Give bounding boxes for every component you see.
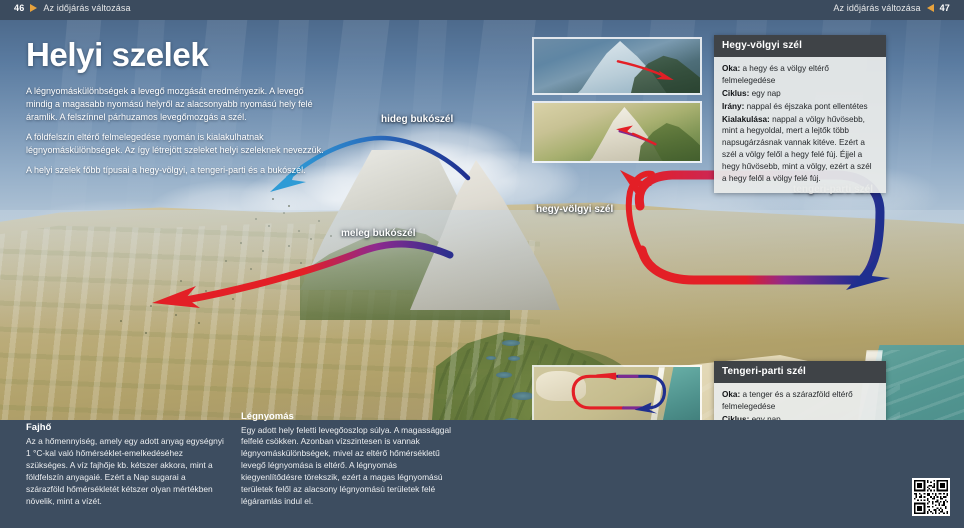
panel-row-label: Oka:	[722, 64, 740, 73]
intro-paragraph-2: A földfelszín eltérő felmelegedése nyomá…	[26, 131, 326, 157]
panel-hegy-volgyi-szel-body: Oka: a hegy és a völgy eltérő felmeleged…	[714, 57, 886, 193]
section-title-right: Az időjárás változása	[833, 3, 920, 13]
panel-row: Oka: a tenger és a szárazföld eltérő fel…	[722, 389, 878, 413]
qr-code[interactable]	[912, 478, 950, 516]
panel-row-value: nappal és éjszaka pont ellentétes	[744, 102, 867, 111]
inset-mountain-night[interactable]	[532, 37, 702, 95]
intro-paragraph-3: A helyi szelek főbb típusai a hegy-völgy…	[26, 164, 326, 177]
header-left-group: 46 Az időjárás változása	[14, 3, 131, 13]
definition-fajho-title: Fajhő	[26, 422, 226, 433]
panel-row-value: nappal a völgy hűvösebb, mint a hegyolda…	[722, 115, 872, 183]
intro-paragraph-1: A légnyomáskülönbségek a levegő mozgását…	[26, 85, 326, 124]
lake	[486, 356, 496, 360]
definition-legnyomas-text: Egy adott hely feletti levegőoszlop súly…	[241, 425, 451, 508]
panel-row-value: egy nap	[749, 89, 780, 98]
triangle-left-icon	[927, 4, 934, 12]
lake	[496, 372, 512, 378]
panel-row-label: Irány:	[722, 102, 744, 111]
lake	[508, 356, 520, 361]
qr-code-icon	[914, 480, 948, 514]
page-title: Helyi szelek	[26, 38, 326, 71]
section-title-left: Az időjárás változása	[43, 3, 130, 13]
header-right-group: Az időjárás változása 47	[833, 3, 950, 13]
label-hegy-volgyi-szel: hegy-völgyi szél	[536, 204, 613, 215]
label-meleg-bukoszel: meleg bukószél	[341, 228, 415, 239]
panel-row: Kialakulása: nappal a völgy hűvösebb, mi…	[722, 114, 878, 185]
panel-hegy-volgyi-szel: Hegy-völgyi szél Oka: a hegy és a völgy …	[714, 35, 886, 193]
definition-fajho-text: Az a hőmennyiség, amely egy adott anyag …	[26, 436, 226, 508]
panel-row-value: a tenger és a szárazföld eltérő felmeleg…	[722, 390, 853, 411]
panel-row: Ciklus: egy nap	[722, 88, 878, 100]
label-hideg-bukoszel: hideg bukószél	[381, 114, 453, 125]
panel-row-label: Kialakulása:	[722, 115, 770, 124]
panel-row: Irány: nappal és éjszaka pont ellentétes	[722, 101, 878, 113]
definition-legnyomas: Légnyomás Egy adott hely feletti levegőo…	[241, 411, 451, 508]
inset-mountain-day[interactable]	[532, 101, 702, 163]
lake	[502, 340, 520, 346]
panel-row-label: Oka:	[722, 390, 740, 399]
panel-hegy-volgyi-szel-title: Hegy-völgyi szél	[714, 35, 886, 57]
lake	[512, 392, 534, 400]
definition-fajho: Fajhő Az a hőmennyiség, amely egy adott …	[26, 422, 226, 508]
panel-row-label: Ciklus:	[722, 89, 749, 98]
inset-coast-day[interactable]	[532, 365, 702, 423]
top-header-bar: 46 Az időjárás változása Az időjárás vál…	[0, 0, 964, 20]
page-root: hideg bukószél meleg bukószél hegy-völgy…	[0, 0, 964, 528]
page-number-right: 47	[940, 3, 950, 13]
page-number-left: 46	[14, 3, 24, 13]
triangle-right-icon	[30, 4, 37, 12]
panel-tengeri-parti-szel-title: Tengeri-parti szél	[714, 361, 886, 383]
intro-block: Helyi szelek A légnyomáskülönbségek a le…	[26, 38, 326, 184]
panel-row: Oka: a hegy és a völgy eltérő felmeleged…	[722, 63, 878, 87]
definition-legnyomas-title: Légnyomás	[241, 411, 451, 422]
